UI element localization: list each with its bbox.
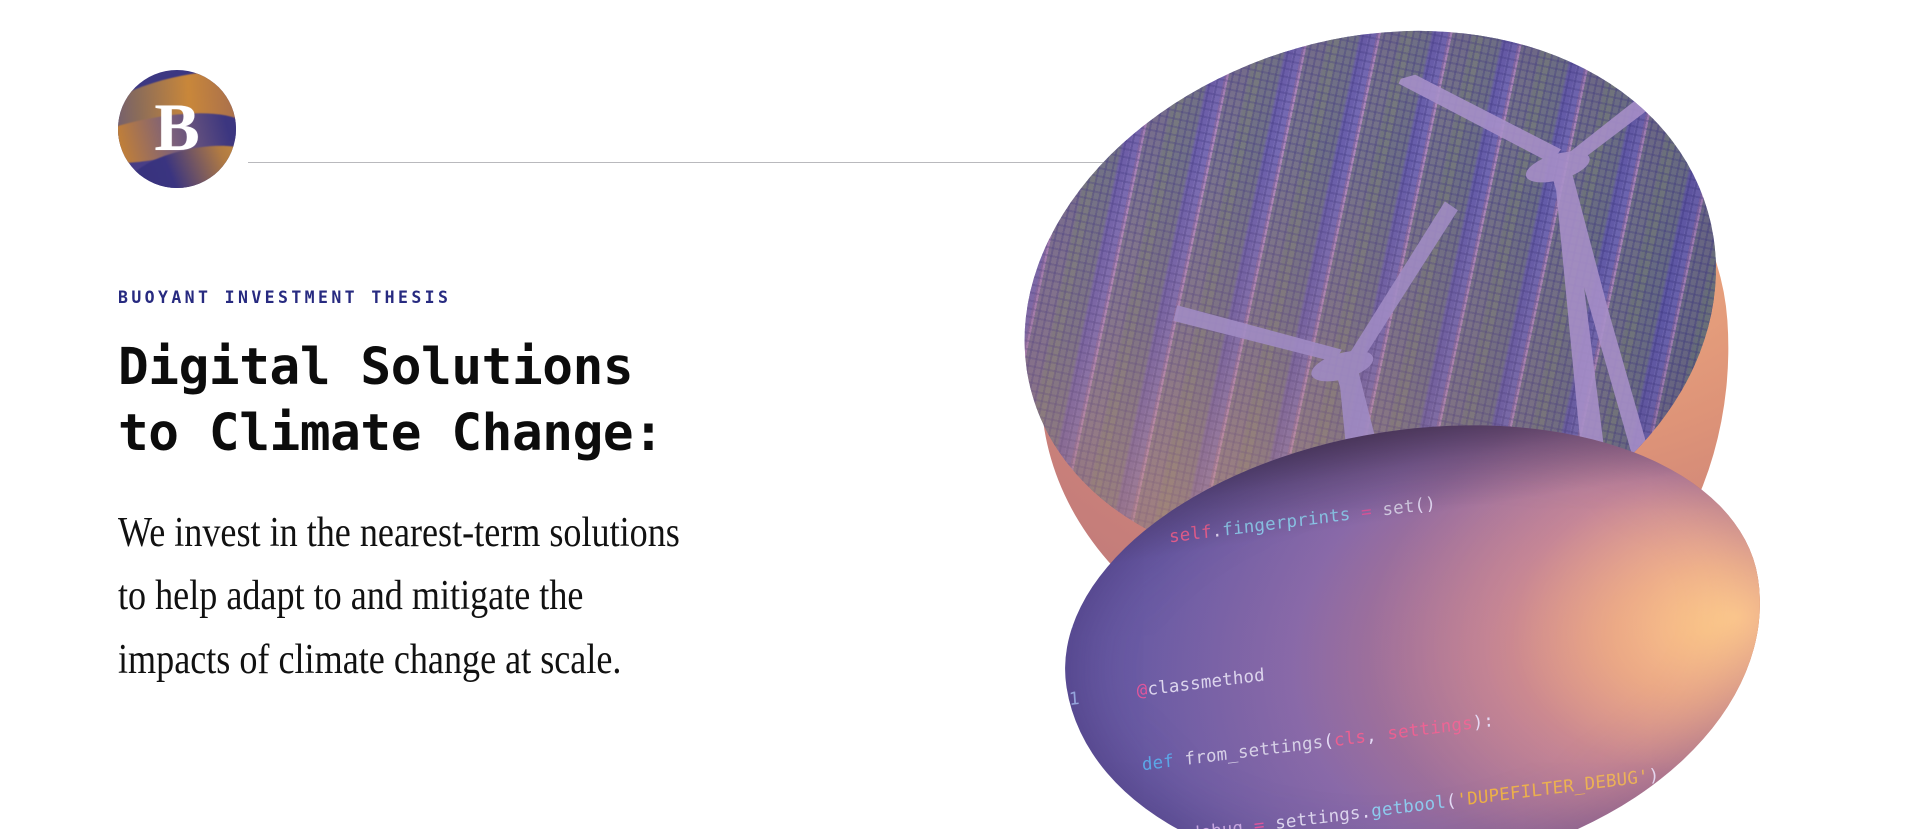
line-number: 40 bbox=[1052, 611, 1090, 640]
body-paragraph: We invest in the nearest-term solutions … bbox=[118, 502, 789, 693]
line-number: 39 bbox=[1047, 536, 1085, 565]
eyebrow-label: BUOYANT INVESTMENT THESIS bbox=[118, 288, 898, 307]
page-root: B BUOYANT INVESTMENT THESIS Digital Solu… bbox=[0, 0, 1920, 829]
page-title: Digital Solutions to Climate Change: bbox=[118, 335, 898, 468]
line-number: 42 bbox=[1063, 759, 1101, 788]
left-content-column: B BUOYANT INVESTMENT THESIS Digital Solu… bbox=[118, 70, 898, 693]
buoyant-logo-icon[interactable]: B bbox=[118, 70, 236, 188]
hero-artwork: 39 self.fingerprints = set() 40 41 @clas… bbox=[1020, 0, 1920, 829]
logo-letter-b: B bbox=[118, 70, 236, 188]
line-number: 41 bbox=[1058, 685, 1096, 714]
